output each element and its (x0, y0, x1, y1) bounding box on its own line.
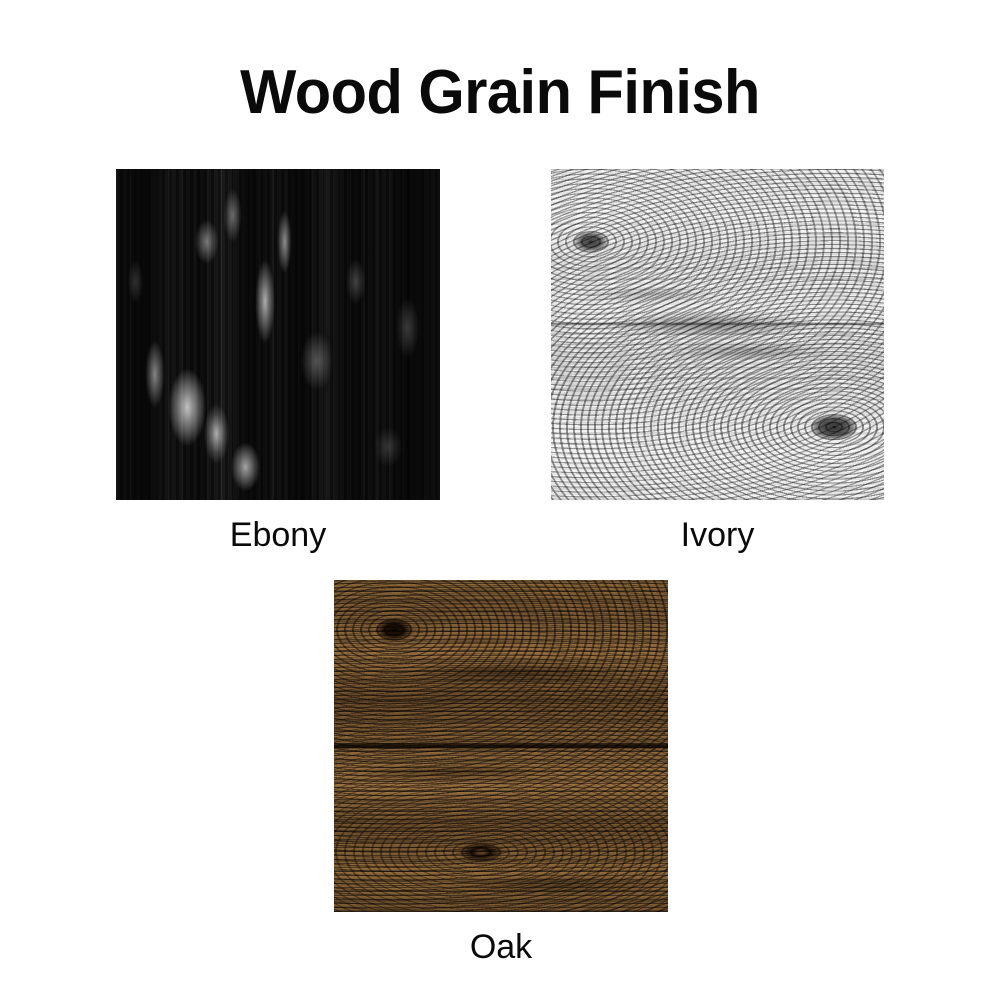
swatch-label-ivory: Ivory (681, 518, 755, 552)
swatch-option-oak[interactable]: Oak (334, 580, 668, 912)
page-title: Wood Grain Finish (20, 62, 980, 124)
swatch-label-ebony: Ebony (230, 518, 326, 552)
swatch-label-oak: Oak (470, 930, 532, 964)
swatch-option-ivory[interactable]: Ivory (551, 169, 884, 500)
swatch-image-ebony[interactable] (116, 169, 440, 500)
swatch-image-oak[interactable] (334, 580, 668, 912)
swatch-option-ebony[interactable]: Ebony (116, 169, 440, 500)
swatch-image-ivory[interactable] (551, 169, 884, 500)
